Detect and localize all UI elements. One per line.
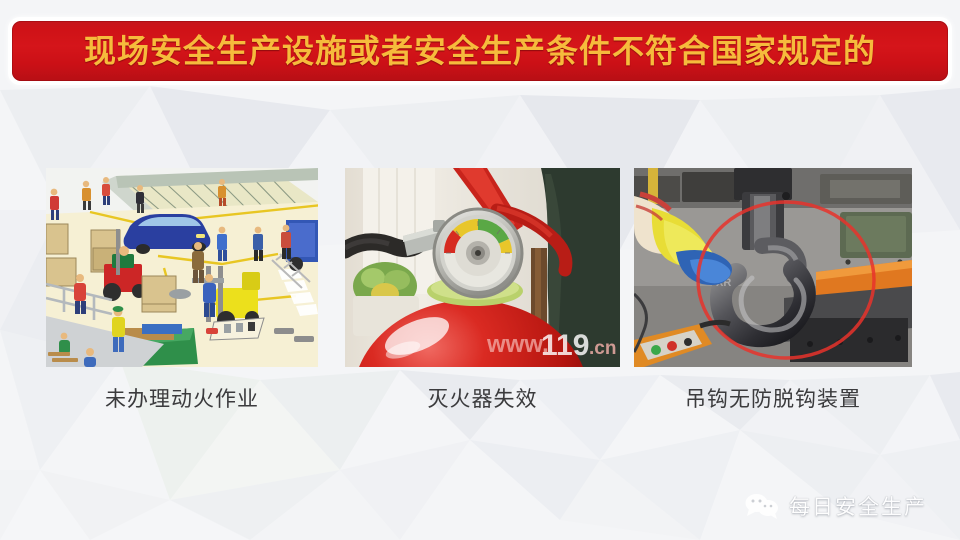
- crane-hook-photo: XR: [634, 168, 912, 367]
- warehouse-safety-illustration: [46, 168, 318, 367]
- card-image-fire-extinguisher-gauge-photo: www. 119 .cn: [345, 168, 620, 367]
- svg-text:119: 119: [541, 329, 589, 362]
- slide-canvas: 现场安全生产设施或者安全生产条件不符合国家规定的: [0, 0, 960, 540]
- title-banner: 现场安全生产设施或者安全生产条件不符合国家规定的: [12, 21, 948, 81]
- card-caption-1: 未办理动火作业: [46, 385, 318, 415]
- card-image-warehouse-safety-illustration: [46, 168, 318, 367]
- title-banner-frame: 现场安全生产设施或者安全生产条件不符合国家规定的: [8, 17, 952, 85]
- card-image-crane-hook-photo: XR: [634, 168, 912, 367]
- svg-text:www.: www.: [486, 331, 549, 358]
- svg-text:.cn: .cn: [589, 338, 616, 359]
- card-caption-3: 吊钩无防脱钩装置: [634, 385, 912, 415]
- wechat-icon: [744, 492, 780, 520]
- watermark-label: 每日安全生产: [789, 491, 927, 521]
- page-title: 现场安全生产设施或者安全生产条件不符合国家规定的: [84, 35, 876, 67]
- card-caption-2: 灭火器失效: [345, 385, 620, 415]
- photo-row: www. 119 .cn: [0, 168, 960, 367]
- fire-extinguisher-gauge-photo: www. 119 .cn: [345, 168, 620, 367]
- watermark: 每日安全生产: [744, 488, 927, 524]
